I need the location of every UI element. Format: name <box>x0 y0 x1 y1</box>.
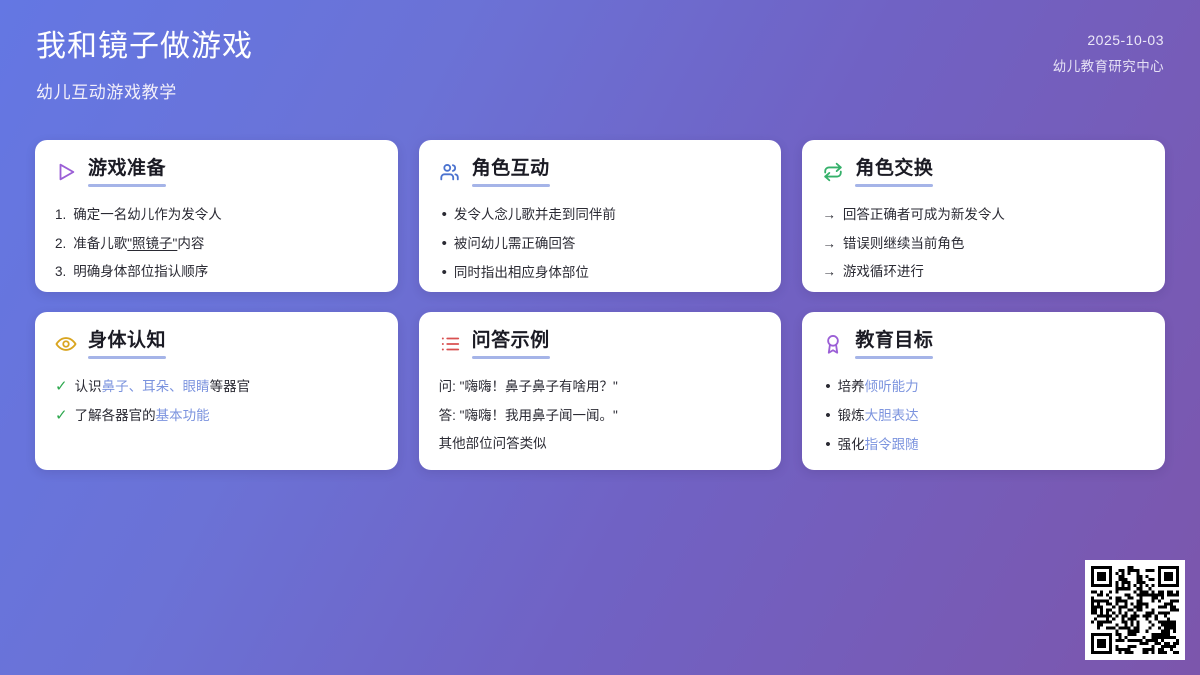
qr-code-image <box>1091 566 1179 654</box>
card-title: 身体认知 <box>88 330 166 352</box>
card-title: 角色互动 <box>472 158 550 180</box>
list-item: •锻炼大胆表达 <box>822 402 1145 431</box>
list-item-text: 回答正确者可成为新发令人 <box>843 206 1145 224</box>
list-item-marker: • <box>822 378 830 396</box>
card-grid: 游戏准备1.确定一名幼儿作为发令人2.准备儿歌"照镜子"内容3.明确身体部位指认… <box>35 140 1165 470</box>
highlighted-text: 指令跟随 <box>865 437 919 452</box>
list-item: •培养倾听能力 <box>822 373 1145 402</box>
list-item-marker: • <box>439 235 447 253</box>
list-item-text-pre: 培养 <box>838 379 865 394</box>
list-item-text: 错误则继续当前角色 <box>843 235 1145 253</box>
list-item-text: 了解各器官的基本功能 <box>75 407 378 425</box>
list-icon <box>439 333 461 355</box>
header-date: 2025-10-03 <box>1053 32 1164 48</box>
highlighted-text: 倾听能力 <box>865 379 919 394</box>
card-title-underline <box>472 356 550 359</box>
list-item-text-pre: 确定一名幼儿作为发令人 <box>73 207 222 222</box>
list-item-marker: 1. <box>55 206 66 224</box>
list-item-text-post: 内容 <box>177 236 204 251</box>
list-item-marker: • <box>439 206 447 224</box>
card-header: 角色交换 <box>822 158 1145 187</box>
highlighted-text: 基本功能 <box>156 408 210 423</box>
list-item-text: 同时指出相应身体部位 <box>454 264 761 282</box>
highlighted-text: 大胆表达 <box>865 408 919 423</box>
list-item-text: 锻炼大胆表达 <box>838 407 1145 425</box>
list-item-text: 明确身体部位指认顺序 <box>73 263 377 281</box>
card-title-wrap: 游戏准备 <box>88 158 166 187</box>
list-item: →回答正确者可成为新发令人 <box>822 201 1145 230</box>
qr-code[interactable] <box>1085 560 1185 660</box>
list-item-text-pre: 强化 <box>838 437 865 452</box>
list-item: →游戏循环进行 <box>822 258 1145 287</box>
card-title-wrap: 角色交换 <box>855 158 933 187</box>
list-item-text: 确定一名幼儿作为发令人 <box>73 206 377 224</box>
header-organization: 幼儿教育研究中心 <box>1053 55 1164 75</box>
list-item: •发令人念儿歌并走到同伴前 <box>439 201 762 230</box>
list-item-text-pre: 被问幼儿需正确回答 <box>454 236 576 251</box>
list-item-text-pre: 同时指出相应身体部位 <box>454 265 589 280</box>
card-title-wrap: 问答示例 <box>472 330 550 359</box>
card-body: ✓认识鼻子、耳朵、眼睛等器官✓了解各器官的基本功能 <box>55 373 378 431</box>
list-item: 3.明确身体部位指认顺序 <box>55 258 378 287</box>
list-item-text: 准备儿歌"照镜子"内容 <box>73 235 377 253</box>
card-header: 角色互动 <box>439 158 762 187</box>
card-header: 身体认知 <box>55 330 378 359</box>
header-meta-group: 2025-10-03 幼儿教育研究中心 <box>1053 28 1164 75</box>
list-item-text: 认识鼻子、耳朵、眼睛等器官 <box>75 378 378 396</box>
card-body: •发令人念儿歌并走到同伴前•被问幼儿需正确回答•同时指出相应身体部位 <box>439 201 762 287</box>
list-item: ✓认识鼻子、耳朵、眼睛等器官 <box>55 373 378 402</box>
card-body: →回答正确者可成为新发令人→错误则继续当前角色→游戏循环进行 <box>822 201 1145 287</box>
card-title: 游戏准备 <box>88 158 166 180</box>
list-item-marker: • <box>822 407 830 425</box>
list-item-marker: → <box>822 263 836 281</box>
card-title-underline <box>88 356 166 359</box>
card-role-swap: 角色交换→回答正确者可成为新发令人→错误则继续当前角色→游戏循环进行 <box>802 140 1165 292</box>
list-item-marker: ✓ <box>55 378 68 396</box>
list-item-text-pre: 认识 <box>75 379 102 394</box>
play-triangle-icon <box>55 161 77 183</box>
list-item-text-pre: 游戏循环进行 <box>843 264 924 279</box>
list-item: 答: "嗨嗨！我用鼻子闻一闻。" <box>439 401 762 430</box>
card-qa-examples: 问答示例问: "嗨嗨！鼻子鼻子有啥用？"答: "嗨嗨！我用鼻子闻一闻。"其他部位… <box>419 312 782 470</box>
list-item-text-pre: 准备儿歌 <box>73 236 127 251</box>
list-item-text: 强化指令跟随 <box>838 436 1145 454</box>
list-item-marker: ✓ <box>55 407 68 425</box>
list-item-text: 培养倾听能力 <box>838 378 1145 396</box>
card-title-wrap: 角色互动 <box>472 158 550 187</box>
list-item-text-pre: 了解各器官的 <box>75 408 156 423</box>
list-item-text-pre: 回答正确者可成为新发令人 <box>843 207 1005 222</box>
list-item-text-pre: 明确身体部位指认顺序 <box>73 264 208 279</box>
list-item-marker: → <box>822 206 836 224</box>
list-item-text-pre: 锻炼 <box>838 408 865 423</box>
card-title-underline <box>472 184 550 187</box>
card-title: 角色交换 <box>855 158 933 180</box>
list-item-text-pre: 错误则继续当前角色 <box>843 236 965 251</box>
list-item-marker: → <box>822 235 836 253</box>
header-title-group: 我和镜子做游戏 幼儿互动游戏教学 <box>36 28 253 103</box>
highlighted-text: 鼻子、耳朵、眼睛 <box>102 379 210 394</box>
page-title: 我和镜子做游戏 <box>36 28 253 66</box>
slide-header: 我和镜子做游戏 幼儿互动游戏教学 2025-10-03 幼儿教育研究中心 <box>0 0 1200 128</box>
list-item: →错误则继续当前角色 <box>822 229 1145 258</box>
list-item: •同时指出相应身体部位 <box>439 258 762 287</box>
card-body-awareness: 身体认知✓认识鼻子、耳朵、眼睛等器官✓了解各器官的基本功能 <box>35 312 398 470</box>
list-item-marker: 3. <box>55 263 66 281</box>
card-body: 问: "嗨嗨！鼻子鼻子有啥用？"答: "嗨嗨！我用鼻子闻一闻。"其他部位问答类似 <box>439 373 762 459</box>
card-title-underline <box>855 356 933 359</box>
card-body: •培养倾听能力•锻炼大胆表达•强化指令跟随 <box>822 373 1145 459</box>
list-item: •强化指令跟随 <box>822 430 1145 459</box>
card-game-preparation: 游戏准备1.确定一名幼儿作为发令人2.准备儿歌"照镜子"内容3.明确身体部位指认… <box>35 140 398 292</box>
card-education-goals: 教育目标•培养倾听能力•锻炼大胆表达•强化指令跟随 <box>802 312 1165 470</box>
card-title: 问答示例 <box>472 330 550 352</box>
repeat-icon <box>822 161 844 183</box>
list-item-text: 游戏循环进行 <box>843 263 1145 281</box>
card-title-underline <box>88 184 166 187</box>
page-subtitle: 幼儿互动游戏教学 <box>36 78 253 103</box>
card-title-underline <box>855 184 933 187</box>
list-item: ✓了解各器官的基本功能 <box>55 402 378 431</box>
card-header: 游戏准备 <box>55 158 378 187</box>
list-item-text-post: 等器官 <box>210 379 251 394</box>
eye-icon <box>55 333 77 355</box>
list-item: •被问幼儿需正确回答 <box>439 230 762 259</box>
card-title-wrap: 身体认知 <box>88 330 166 359</box>
list-item: 其他部位问答类似 <box>439 430 762 459</box>
card-header: 问答示例 <box>439 330 762 359</box>
list-item-text: 发令人念儿歌并走到同伴前 <box>454 206 761 224</box>
list-item: 问: "嗨嗨！鼻子鼻子有啥用？" <box>439 373 762 402</box>
list-item: 2.准备儿歌"照镜子"内容 <box>55 229 378 258</box>
award-icon <box>822 333 844 355</box>
list-item-text: 被问幼儿需正确回答 <box>454 235 761 253</box>
card-header: 教育目标 <box>822 330 1145 359</box>
list-item: 1.确定一名幼儿作为发令人 <box>55 201 378 230</box>
card-body: 1.确定一名幼儿作为发令人2.准备儿歌"照镜子"内容3.明确身体部位指认顺序 <box>55 201 378 287</box>
card-title-wrap: 教育目标 <box>855 330 933 359</box>
card-role-interaction: 角色互动•发令人念儿歌并走到同伴前•被问幼儿需正确回答•同时指出相应身体部位 <box>419 140 782 292</box>
highlighted-text: "照镜子" <box>127 236 177 251</box>
card-title: 教育目标 <box>855 330 933 352</box>
users-icon <box>439 161 461 183</box>
list-item-text-pre: 发令人念儿歌并走到同伴前 <box>454 207 616 222</box>
list-item-marker: • <box>439 264 447 282</box>
list-item-marker: 2. <box>55 235 66 253</box>
list-item-marker: • <box>822 436 830 454</box>
